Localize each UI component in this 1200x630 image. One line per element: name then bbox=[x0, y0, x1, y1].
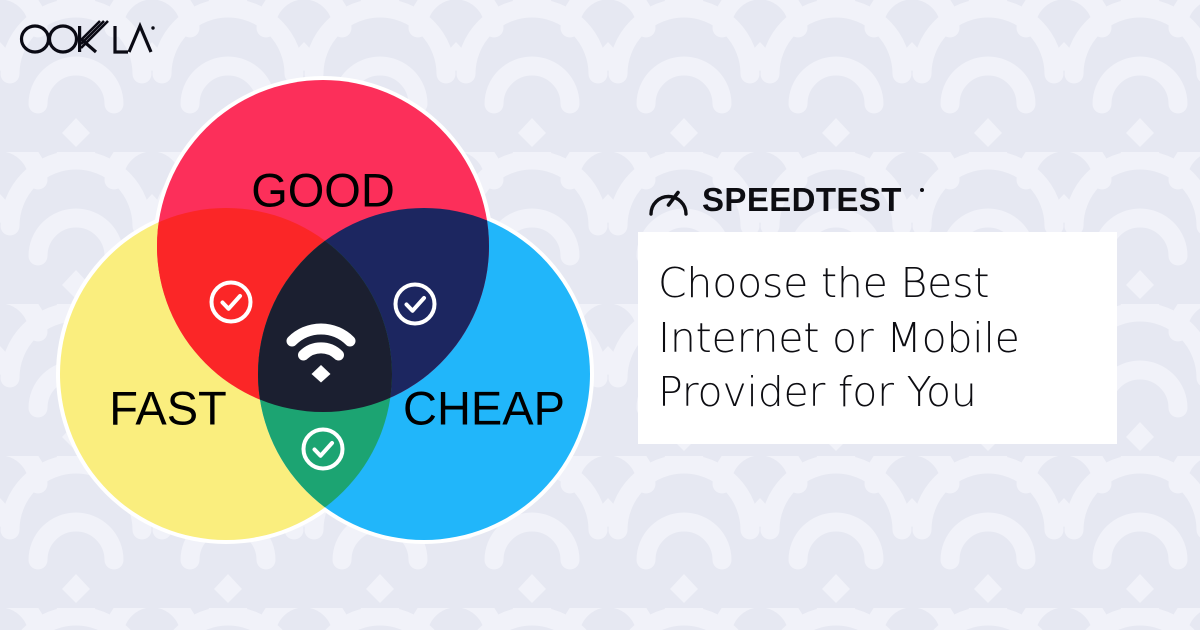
venn-label-cheap: CHEAP bbox=[403, 381, 565, 434]
speedtest-wordmark: SPEEDTEST bbox=[702, 181, 902, 218]
venn-label-fast: FAST bbox=[109, 381, 227, 434]
speedtest-logo[interactable]: SPEEDTEST bbox=[645, 178, 930, 224]
headline-card: Choose the Best Internet or Mobile Provi… bbox=[638, 232, 1117, 444]
ookla-logo[interactable] bbox=[16, 18, 156, 58]
venn-label-good: GOOD bbox=[251, 163, 395, 216]
speedometer-icon bbox=[651, 193, 686, 215]
registered-mark-icon bbox=[920, 188, 924, 192]
promo-banner: GOOD FAST CHEAP bbox=[0, 0, 1200, 630]
registered-mark-icon bbox=[151, 26, 154, 29]
page-title: Choose the Best Internet or Mobile Provi… bbox=[638, 256, 1020, 420]
venn-diagram: GOOD FAST CHEAP bbox=[56, 64, 596, 564]
